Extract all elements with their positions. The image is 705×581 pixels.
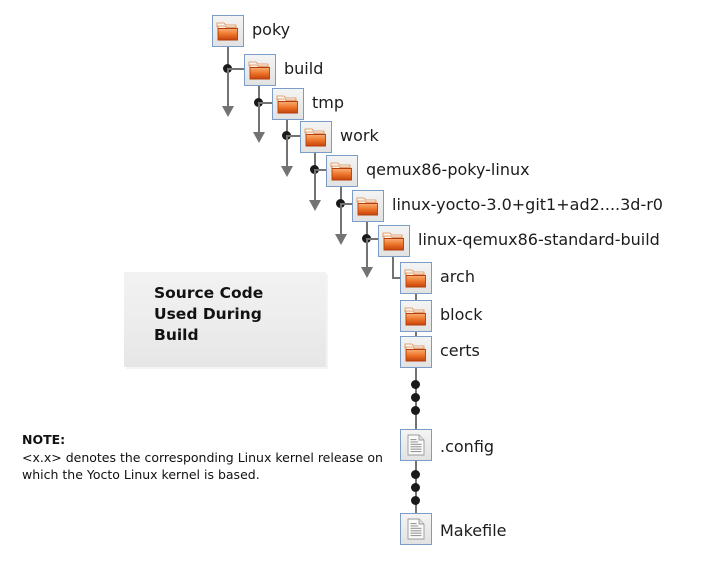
ellipsis-dot-1 <box>411 380 420 389</box>
node-label-config-file: .config <box>440 439 494 455</box>
document-icon <box>400 429 432 461</box>
source-code-callout-text: Source Code Used During Build <box>154 283 263 346</box>
node-certs[interactable] <box>400 336 432 368</box>
node-linux-qemux86-standard-build[interactable] <box>378 225 410 257</box>
connector-build-to-tmp <box>258 102 273 104</box>
folder-icon <box>212 15 244 47</box>
connector-tmp-continue <box>286 135 288 169</box>
node-config-file[interactable] <box>400 429 432 461</box>
node-poky[interactable] <box>212 15 244 47</box>
connector-qemux86-continue <box>340 203 342 237</box>
node-label-certs: certs <box>440 343 480 359</box>
folder-icon <box>352 190 384 222</box>
folder-icon <box>300 121 332 153</box>
node-label-block: block <box>440 307 482 323</box>
diagram-canvas: Source Code Used During Build poky <box>0 0 705 581</box>
arrowhead-qemux86 <box>335 234 347 245</box>
node-label-qemux86-poky-linux: qemux86-poky-linux <box>366 162 530 178</box>
node-build[interactable] <box>244 54 276 86</box>
node-label-build: build <box>284 61 323 77</box>
arrowhead-poky <box>222 106 234 117</box>
arrowhead-linuxyocto <box>361 267 373 278</box>
note-body: <x.x> denotes the corresponding Linux ke… <box>22 449 402 483</box>
connector-poky-continue <box>227 68 229 109</box>
connector-tmp-to-work <box>286 135 301 137</box>
connector-poky-to-build <box>227 68 245 70</box>
node-linux-yocto[interactable] <box>352 190 384 222</box>
arrowhead-build <box>253 132 265 143</box>
folder-icon <box>326 155 358 187</box>
connector-build-continue <box>258 102 260 135</box>
arrowhead-tmp <box>281 166 293 177</box>
node-qemux86-poky-linux[interactable] <box>326 155 358 187</box>
node-label-tmp: tmp <box>312 95 344 111</box>
node-makefile[interactable] <box>400 513 432 545</box>
node-label-poky: poky <box>252 22 290 38</box>
connector-stdbuild-down <box>392 257 394 279</box>
folder-icon <box>400 336 432 368</box>
ellipsis-dot-3 <box>411 406 420 415</box>
folder-icon <box>378 225 410 257</box>
node-label-makefile: Makefile <box>440 523 507 539</box>
note-title: NOTE: <box>22 432 65 447</box>
ellipsis-dot-2 <box>411 393 420 402</box>
node-work[interactable] <box>300 121 332 153</box>
document-icon <box>400 513 432 545</box>
node-arch[interactable] <box>400 262 432 294</box>
folder-icon <box>400 262 432 294</box>
node-label-linux-yocto: linux-yocto-3.0+git1+ad2....3d-r0 <box>392 197 663 213</box>
node-label-work: work <box>340 128 379 144</box>
connector-work-continue <box>314 169 316 203</box>
node-tmp[interactable] <box>272 88 304 120</box>
folder-icon <box>400 300 432 332</box>
ellipsis-dot-6 <box>411 496 420 505</box>
node-block[interactable] <box>400 300 432 332</box>
folder-icon <box>272 88 304 120</box>
ellipsis-dot-5 <box>411 483 420 492</box>
folder-icon <box>244 54 276 86</box>
node-label-arch: arch <box>440 269 475 285</box>
connector-linuxyocto-continue <box>366 238 368 270</box>
node-label-linux-qemux86-standard-build: linux-qemux86-standard-build <box>418 232 660 248</box>
arrowhead-work <box>309 200 321 211</box>
ellipsis-dot-4 <box>411 470 420 479</box>
